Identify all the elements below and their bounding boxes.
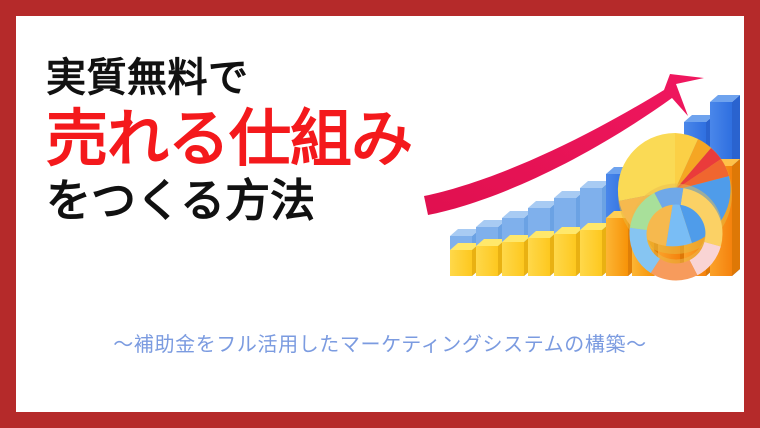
chart-illustration xyxy=(424,72,746,294)
headline-block: 実質無料で 売れる仕組み をつくる方法 xyxy=(46,58,426,223)
banner-canvas: 実質無料で 売れる仕組み をつくる方法 xyxy=(0,0,760,428)
bar-6 xyxy=(580,181,610,276)
bar-3 xyxy=(502,211,532,276)
headline-line-1: 実質無料で xyxy=(46,58,426,98)
bar-4 xyxy=(528,201,558,276)
subtitle: 〜補助金をフル活用したマーケティングシステムの構築〜 xyxy=(0,328,760,357)
bar-5 xyxy=(554,191,584,276)
bar-2 xyxy=(476,220,506,276)
bar-1 xyxy=(450,229,480,276)
headline-line-2: 売れる仕組み xyxy=(46,108,426,170)
headline-line-3: をつくる方法 xyxy=(46,178,426,223)
